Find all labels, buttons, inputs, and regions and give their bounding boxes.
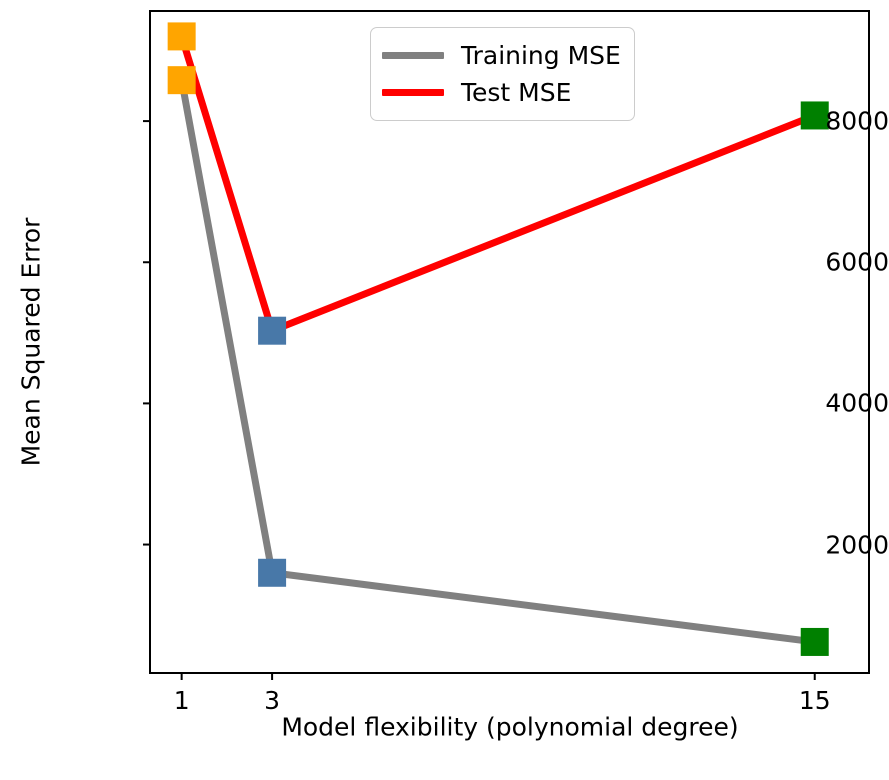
data-point-marker [168, 23, 195, 50]
data-point-marker [801, 628, 828, 655]
y-axis-title-wrap: Mean Squared Error [14, 0, 48, 780]
legend-color-swatch [382, 52, 444, 59]
data-point-marker [259, 317, 286, 344]
x-tick-label: 1 [174, 686, 190, 715]
chart-figure: 2000400060008000 1315 Mean Squared Error… [0, 0, 889, 780]
legend-color-swatch [382, 89, 444, 96]
legend-item: Test MSE [382, 74, 621, 111]
y-tick-label: 4000 [752, 389, 889, 418]
data-point-marker [168, 67, 195, 94]
y-axis-title: Mean Squared Error [17, 218, 46, 467]
y-tick-label: 6000 [752, 248, 889, 277]
series-line [182, 80, 815, 642]
x-axis-title: Model flexibility (polynomial degree) [281, 713, 738, 742]
y-axis-tick-marks [143, 121, 150, 544]
legend-item: Training MSE [382, 37, 621, 74]
y-tick-label: 2000 [752, 530, 889, 559]
legend-label: Training MSE [461, 43, 621, 68]
data-point-marker [259, 559, 286, 586]
legend-label: Test MSE [461, 80, 571, 105]
x-tick-label: 3 [264, 686, 280, 715]
x-axis-tick-marks [182, 673, 815, 680]
legend: Training MSETest MSE [370, 27, 635, 121]
x-tick-label: 15 [799, 686, 831, 715]
y-tick-label: 8000 [752, 107, 889, 136]
